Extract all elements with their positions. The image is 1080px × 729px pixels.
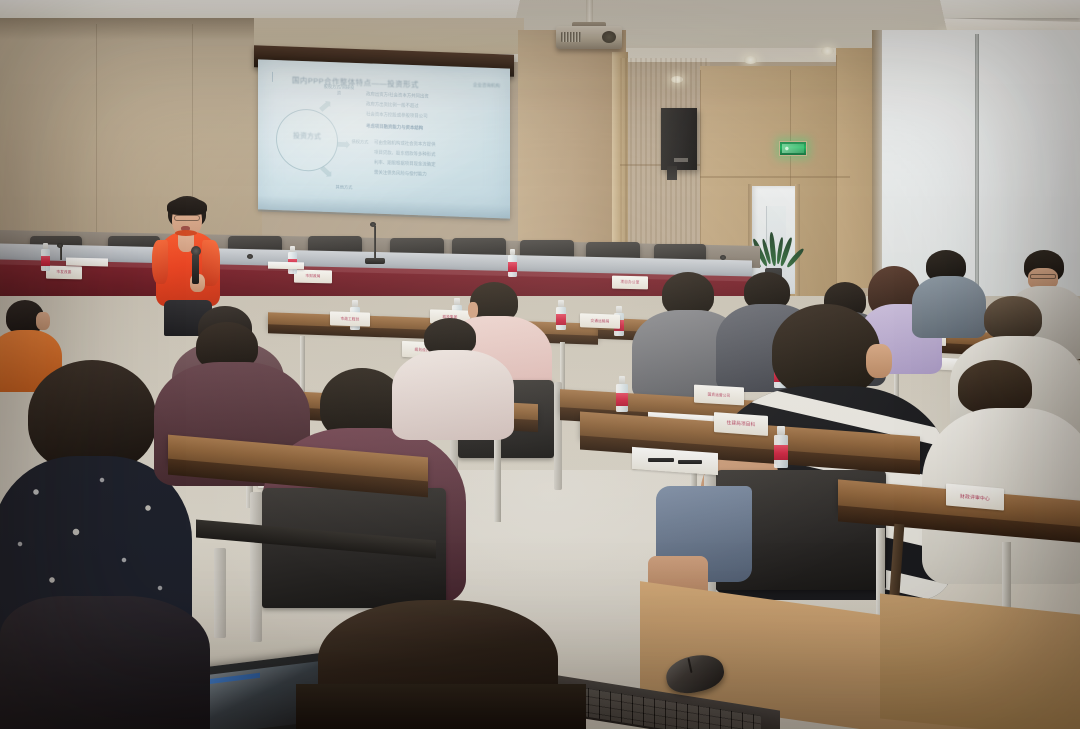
placard-text: 交通运输局 xyxy=(591,318,610,324)
microphone-base xyxy=(365,258,385,264)
chair-frame xyxy=(214,548,226,638)
microphone-head-icon xyxy=(720,255,726,260)
water-bottle xyxy=(774,426,788,468)
attendee-hair xyxy=(984,296,1042,340)
slide-body-line: 项目贷款、股东借款等多种形式 xyxy=(374,150,435,159)
attendee-hair xyxy=(772,304,880,396)
slide-body-line: 政府方出资比例一般不超过 xyxy=(366,101,419,110)
ceiling-downlight-icon xyxy=(821,47,834,55)
placard-text: 住建局项目科 xyxy=(727,420,756,428)
slide-node-label: 股权方式/间接投资 xyxy=(322,84,356,97)
presenter-arm xyxy=(152,240,168,284)
attendee-shirt xyxy=(392,350,514,440)
ceiling-downlight-icon xyxy=(744,56,757,64)
microphone-head-icon xyxy=(191,246,201,256)
table-leg xyxy=(494,430,501,522)
table-microphone xyxy=(60,246,62,260)
projector-lens-icon xyxy=(602,31,616,43)
name-placard: 市财政局 xyxy=(294,270,332,284)
name-placard: 市政工程处 xyxy=(330,311,370,326)
slide-arrow-icon xyxy=(337,140,350,148)
slide-content: 国内PPP合作整体特点——投资形式 企业咨询机构 投资方式 股权方式/间接投资 … xyxy=(258,59,510,218)
name-placard: 住建局项目科 xyxy=(714,412,768,436)
microphone-head-icon xyxy=(57,243,63,248)
attendee xyxy=(394,318,512,438)
slide-node-label: 债权方式 xyxy=(350,139,370,146)
running-man-exit-icon xyxy=(782,144,804,153)
eyeglasses-icon xyxy=(174,215,200,221)
attendee-hair xyxy=(958,360,1032,414)
placard-text: 市发改委 xyxy=(56,270,71,275)
water-bottle xyxy=(508,249,517,277)
handout-paper xyxy=(268,262,304,270)
name-placard: 交通运输局 xyxy=(580,313,620,329)
slide-body-line: 社会资本方控股或参股项目公司 xyxy=(366,111,427,120)
slide-body-line: 需关注债务风险与偿付能力 xyxy=(374,170,427,179)
pen xyxy=(648,458,674,462)
placard-text: 财政评审中心 xyxy=(960,492,990,502)
water-bottle xyxy=(288,246,297,274)
slide-body-line: 政府出资方/社会资本方共同出资 xyxy=(366,91,429,100)
speaker-bracket xyxy=(667,166,677,180)
slide-arrow-icon xyxy=(318,99,333,113)
microphone-head-icon xyxy=(247,254,253,259)
conference-room-photo: 国内PPP合作整体特点——投资形式 企业咨询机构 投资方式 股权方式/间接投资 … xyxy=(0,0,1080,729)
exit-sign xyxy=(779,141,807,156)
slide-logo: 企业咨询机构 xyxy=(473,82,500,89)
speaker-brand-label xyxy=(674,158,688,162)
water-bottle xyxy=(616,376,628,412)
placard-text: 市政工程处 xyxy=(341,316,360,322)
attendee-ear xyxy=(866,344,892,378)
attendee-ear xyxy=(468,302,478,318)
eyeglasses-icon xyxy=(1030,274,1056,279)
pen xyxy=(678,460,702,464)
slide-title-rule xyxy=(272,72,288,83)
microphone-head-icon xyxy=(370,222,376,227)
handheld-microphone xyxy=(192,254,199,284)
slide-body-line: 考虑项目融资能力与资本结构 xyxy=(366,123,423,132)
foreground-person-shoulders xyxy=(296,684,586,729)
table-microphone xyxy=(374,226,376,254)
name-placard: 市发改委 xyxy=(46,266,82,280)
foreground-person xyxy=(0,596,210,729)
wall-trim xyxy=(700,176,850,178)
presenter-hair xyxy=(167,198,207,215)
handout-paper xyxy=(66,258,108,267)
water-bottle xyxy=(556,300,566,330)
wall-seam xyxy=(836,55,837,290)
slide-body-line: 可由金融机构或社会资本方提供 xyxy=(374,140,435,149)
shirt-collar xyxy=(175,230,197,236)
chair-frame xyxy=(250,492,262,642)
water-bottle xyxy=(41,243,50,271)
wall-shadow xyxy=(0,18,262,40)
attendee-face xyxy=(36,312,50,330)
placard-text: 市财政局 xyxy=(305,274,320,279)
slide-node-label: 其他方式 xyxy=(332,184,356,191)
foreground-desk xyxy=(880,593,1080,729)
slide-body-line: 利率、期限根据项目现金流确定 xyxy=(374,160,435,169)
projector-vent xyxy=(561,32,581,42)
